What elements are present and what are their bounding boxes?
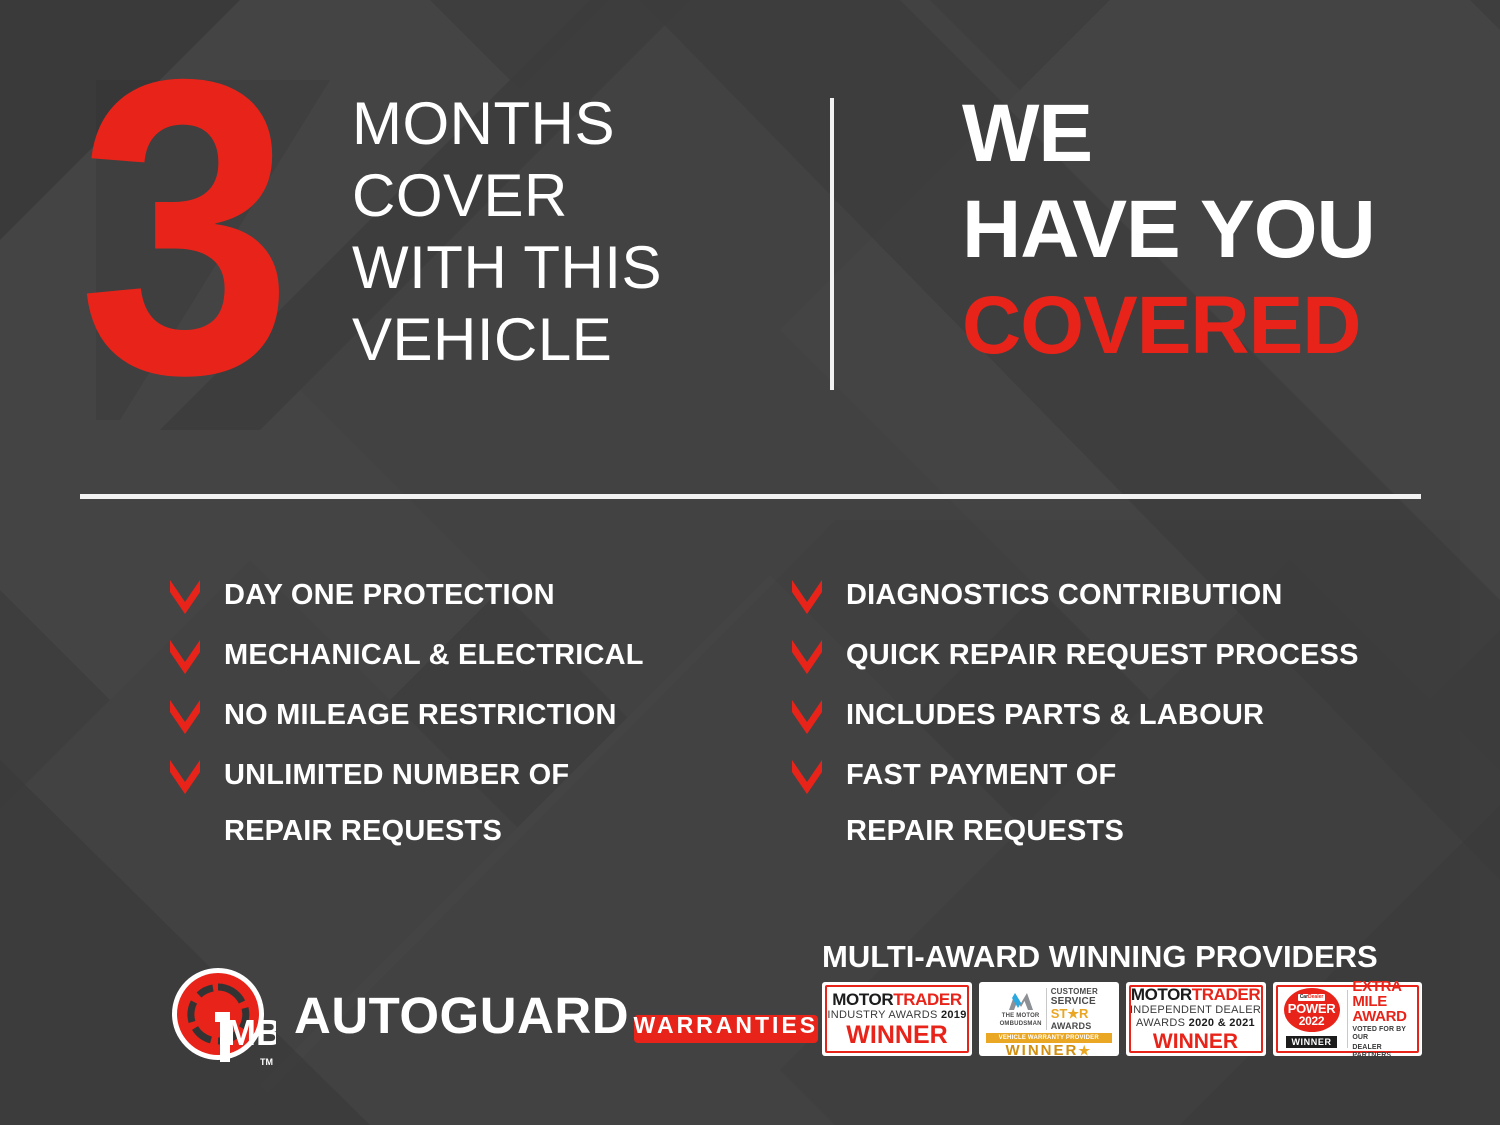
feature-label: NO MILEAGE RESTRICTION <box>224 696 617 734</box>
award-badge-motor-trader-2019: MOTORTRADER INDUSTRY AWARDS 2019 WINNER <box>822 982 972 1056</box>
award-badge-motor-ombudsman: THE MOTOR OMBUDSMAN CUSTOMER SERVICE ST★… <box>979 982 1119 1056</box>
check-icon <box>168 698 202 736</box>
list-item: INCLUDES PARTS & LABOUR <box>790 696 1450 740</box>
badge-status: WINNER <box>846 1022 947 1048</box>
trademark-symbol: TM <box>260 1057 273 1067</box>
extra-mile-line-2: MILE <box>1352 994 1413 1009</box>
feature-label: UNLIMITED NUMBER OF REPAIR REQUESTS <box>224 756 569 850</box>
check-icon <box>168 758 202 796</box>
award-badge-motor-trader-2020-2021: MOTORTRADER INDEPENDENT DEALER AWARDS 20… <box>1126 982 1266 1056</box>
motor-ombudsman-icon <box>1000 990 1042 1012</box>
feature-label-line-1: UNLIMITED NUMBER OF <box>224 759 569 791</box>
list-item: QUICK REPAIR REQUEST PROCESS <box>790 636 1450 680</box>
badge-brand-part-1: MOTOR <box>832 990 893 1009</box>
check-icon <box>168 578 202 616</box>
headline-left-line-2: COVER <box>352 160 812 232</box>
headline-left: MONTHS COVER WITH THIS VEHICLE <box>352 88 812 376</box>
feature-label: DIAGNOSTICS CONTRIBUTION <box>846 576 1283 614</box>
horizontal-divider <box>80 494 1421 499</box>
badge-subtitle: INDEPENDENT DEALER <box>1130 1004 1261 1017</box>
badge-brand-part-2: TRADER <box>1192 985 1260 1004</box>
car-dealer-brand-part-1: Car <box>1300 994 1308 1000</box>
autoguard-wordmark: AUTOGUARD WARRANTIES <box>294 990 818 1042</box>
power-label: POWER <box>1288 1002 1336 1015</box>
award-badge-row: MOTORTRADER INDUSTRY AWARDS 2019 WINNER <box>822 982 1422 1056</box>
headline-left-line-3: WITH THIS <box>352 232 812 304</box>
feature-label-line-2: REPAIR REQUESTS <box>224 812 569 850</box>
feature-column-left: DAY ONE PROTECTION MECHANICAL & ELECTRIC… <box>168 576 788 860</box>
badge-separator <box>1046 988 1047 1030</box>
check-icon <box>790 698 824 736</box>
ombudsman-name-line-1: THE MOTOR <box>1000 1013 1042 1020</box>
feature-label-line-1: FAST PAYMENT OF <box>846 759 1116 791</box>
badge-separator <box>1347 990 1348 1048</box>
award-badge-car-dealer-power-2022: CarDealer POWER 2022 WINNER EXTRA MILE A… <box>1273 982 1422 1056</box>
badge-brand: MOTORTRADER <box>832 991 961 1009</box>
badge-subtitle: INDUSTRY AWARDS 2019 <box>827 1009 966 1022</box>
list-item: UNLIMITED NUMBER OF REPAIR REQUESTS <box>168 756 788 850</box>
badge-subtitle-text: INDUSTRY AWARDS <box>827 1009 937 1021</box>
star-awards-line-1: CUSTOMER <box>1051 987 1098 996</box>
feature-column-right: DIAGNOSTICS CONTRIBUTION QUICK REPAIR RE… <box>790 576 1450 860</box>
svg-text:MBi: MBi <box>226 1012 276 1053</box>
promo-poster: 3 MONTHS COVER WITH THIS VEHICLE WE HAVE… <box>0 0 1500 1125</box>
cover-duration-number: 3 <box>78 18 282 438</box>
headline-right: WE HAVE YOU COVERED <box>962 86 1442 374</box>
check-icon <box>790 578 824 616</box>
badge-brand-part-2: TRADER <box>893 990 961 1009</box>
badge-status: WINNER <box>1286 1036 1336 1048</box>
power-disc: CarDealer POWER 2022 <box>1284 988 1340 1032</box>
feature-label: MECHANICAL & ELECTRICAL <box>224 636 644 674</box>
check-icon <box>790 638 824 676</box>
list-item: DAY ONE PROTECTION <box>168 576 788 620</box>
list-item: MECHANICAL & ELECTRICAL <box>168 636 788 680</box>
extra-mile-sub-1: VOTED FOR BY OUR <box>1352 1026 1413 1042</box>
brand-name: AUTOGUARD <box>294 987 629 1044</box>
check-icon <box>790 758 824 796</box>
feature-label: QUICK REPAIR REQUEST PROCESS <box>846 636 1359 674</box>
badge-year: 2019 <box>941 1009 967 1021</box>
brand-tagline-bar: WARRANTIES <box>634 1015 819 1043</box>
headline-right-accent: COVERED <box>962 278 1442 374</box>
list-item: DIAGNOSTICS CONTRIBUTION <box>790 576 1450 620</box>
car-dealer-brand-part-2: Dealer <box>1308 994 1323 1000</box>
extra-mile-line-3: AWARD <box>1352 1009 1413 1024</box>
feature-label: INCLUDES PARTS & LABOUR <box>846 696 1264 734</box>
list-item: NO MILEAGE RESTRICTION <box>168 696 788 740</box>
badge-subtitle-2-text: AWARDS <box>1136 1017 1185 1029</box>
power-year: 2022 <box>1299 1015 1325 1027</box>
vertical-divider <box>830 98 834 390</box>
badge-subtitle-2: AWARDS 2020 & 2021 <box>1136 1017 1255 1030</box>
headline-left-line-4: VEHICLE <box>352 304 812 376</box>
awards-section: MULTI-AWARD WINNING PROVIDERS MOTORTRADE… <box>822 940 1422 1056</box>
badge-brand: MOTORTRADER <box>1131 986 1260 1004</box>
badge-status: WINNER <box>1153 1030 1238 1053</box>
badge-status-text: WINNER <box>1006 1042 1079 1059</box>
autoguard-logo: MBi TM AUTOGUARD WARRANTIES <box>168 962 818 1070</box>
feature-label: DAY ONE PROTECTION <box>224 576 555 614</box>
ombudsman-name-line-2: OMBUDSMAN <box>1000 1021 1042 1028</box>
star-icon: ★ <box>1078 1043 1092 1058</box>
extra-mile-sub-2: DEALER PARTNERS <box>1352 1044 1413 1060</box>
awards-title: MULTI-AWARD WINNING PROVIDERS <box>822 940 1422 974</box>
feature-label: FAST PAYMENT OF REPAIR REQUESTS <box>846 756 1124 850</box>
list-item: FAST PAYMENT OF REPAIR REQUESTS <box>790 756 1450 850</box>
check-icon <box>168 638 202 676</box>
headline-right-line-1: WE <box>962 86 1442 182</box>
headline-right-line-2: HAVE YOU <box>962 182 1442 278</box>
badge-status: WINNER★ <box>986 1043 1112 1059</box>
badge-brand-part-1: MOTOR <box>1131 985 1192 1004</box>
star-awards-line-3: ST★R <box>1051 1007 1098 1021</box>
extra-mile-line-1: EXTRA <box>1352 979 1413 994</box>
mbi-logo-icon: MBi TM <box>168 962 276 1070</box>
brand-tagline: WARRANTIES <box>634 1012 819 1038</box>
extra-mile-award: EXTRA MILE AWARD VOTED FOR BY OUR DEALER… <box>1352 979 1413 1060</box>
badge-year: 2020 & 2021 <box>1189 1017 1255 1029</box>
feature-label-line-2: REPAIR REQUESTS <box>846 812 1124 850</box>
hero-section: 3 MONTHS COVER WITH THIS VEHICLE WE HAVE… <box>0 0 1500 470</box>
car-dealer-power-seal: CarDealer POWER 2022 WINNER <box>1282 988 1342 1050</box>
headline-left-line-1: MONTHS <box>352 88 812 160</box>
car-dealer-brand: CarDealer <box>1298 994 1326 1001</box>
star-awards-line-4: AWARDS <box>1051 1021 1098 1031</box>
